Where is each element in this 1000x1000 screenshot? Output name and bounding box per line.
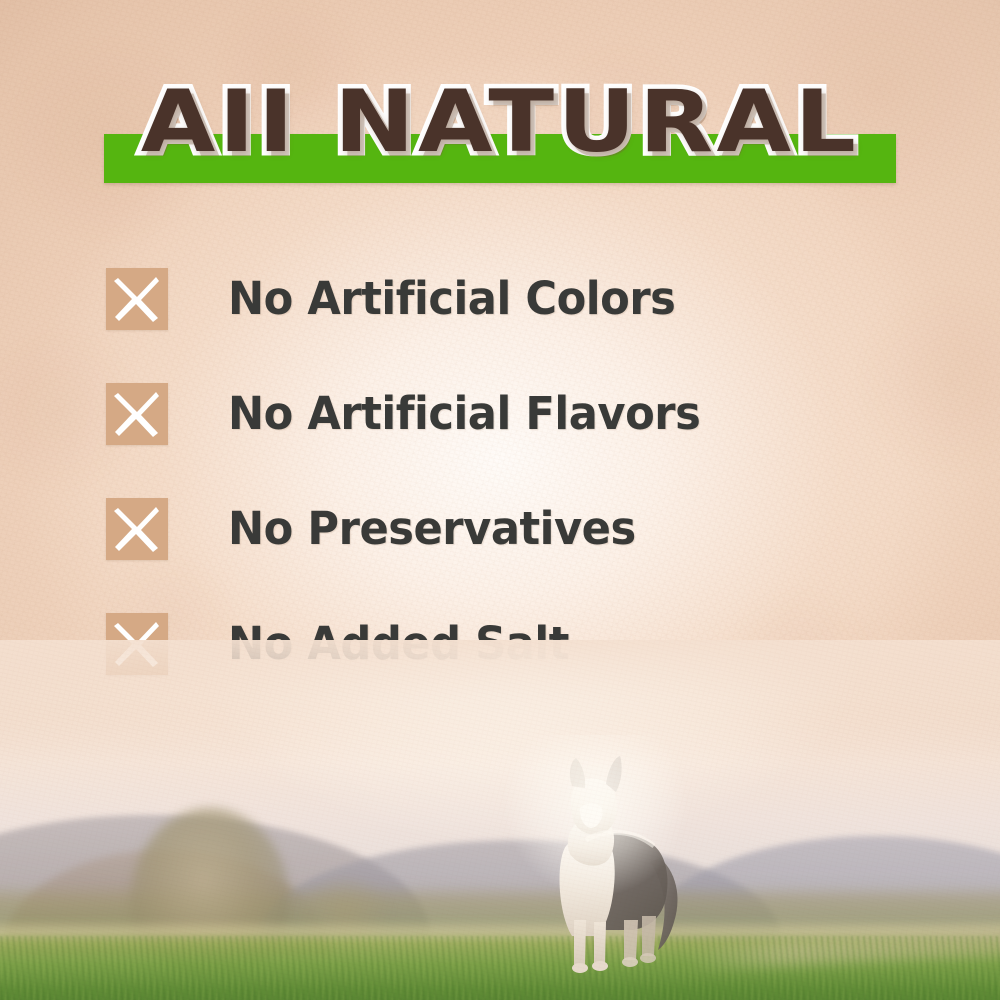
x-mark-icon: [106, 383, 168, 445]
benefit-label: No Preservatives: [228, 498, 636, 560]
benefits-list: No Artificial Colors No Artificial Flavo…: [106, 268, 926, 675]
x-mark-icon: [106, 498, 168, 560]
benefit-label: No Artificial Colors: [228, 268, 675, 330]
benefit-label: No Artificial Flavors: [228, 383, 700, 445]
dog-in-meadow-photo: [0, 640, 1000, 1000]
headline-block: AII NATURAL: [0, 72, 1000, 192]
list-item: No Artificial Flavors: [106, 383, 926, 445]
page-title: AII NATURAL: [0, 72, 1000, 172]
x-mark-icon: [106, 268, 168, 330]
grass-texture: [0, 936, 1000, 1000]
list-item: No Artificial Colors: [106, 268, 926, 330]
border-collie-dog: [528, 750, 698, 980]
list-item: No Preservatives: [106, 498, 926, 560]
all-natural-feature-graphic: AII NATURAL No Artificial Colors No Arti…: [0, 0, 1000, 1000]
